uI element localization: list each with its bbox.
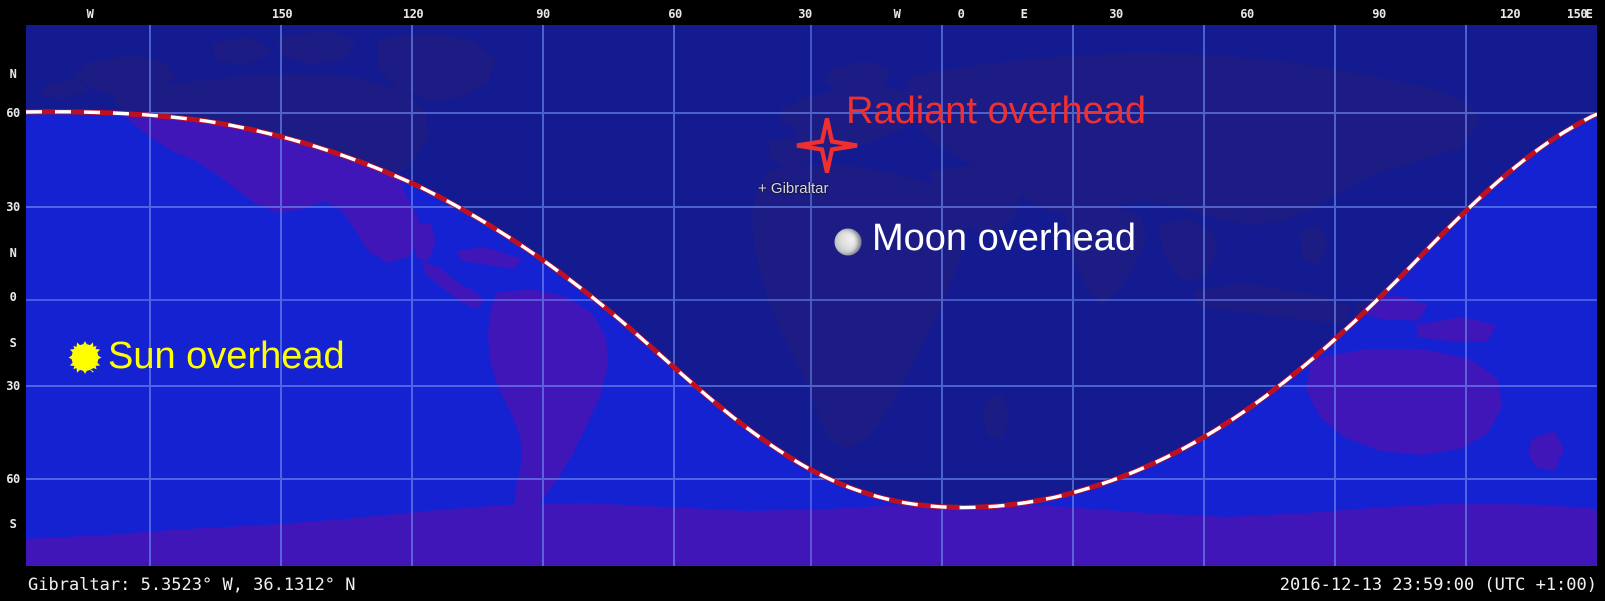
lon-tick-label: 60 [668,8,681,20]
map-svg [26,25,1597,566]
moon-overhead-label: Moon overhead [872,219,1136,257]
lat-tick-label: 60 [6,473,19,485]
lat-tick-label: N [10,247,17,259]
lat-tick-label: 60 [6,107,19,119]
lat-tick-label: 30 [6,201,19,213]
map-canvas[interactable] [26,25,1597,566]
lat-tick-label: 0 [10,291,17,303]
lon-tick-label: E [1021,8,1028,20]
lon-tick-label: E [1586,8,1593,20]
lon-tick-label: 120 [1500,8,1520,20]
sun-overhead-label: Sun overhead [108,337,345,375]
status-timestamp-text: 2016-12-13 23:59:00 (UTC +1:00) [1280,575,1597,595]
city-marker-gibraltar[interactable]: + Gibraltar [758,180,828,197]
lon-tick-label: W [87,8,94,20]
world-map-app: W 150 120 90 60 30 W 0 E 30 60 90 120 15… [0,0,1605,601]
sun-disc [66,339,104,377]
lon-tick-label: 30 [1109,8,1122,20]
lon-tick-label: 30 [798,8,811,20]
lat-tick-label: 30 [6,380,19,392]
lon-tick-label: 150 [272,8,292,20]
lat-tick-label: S [10,337,17,349]
sun-icon[interactable] [66,339,104,382]
status-location-text: Gibraltar: 5.3523° W, 36.1312° N [28,575,356,595]
lon-tick-label: 90 [1372,8,1385,20]
lon-tick-label: 60 [1240,8,1253,20]
lat-tick-label: S [10,518,17,530]
lat-tick-label: N [10,68,17,80]
lon-tick-label: 120 [403,8,423,20]
status-bar: Gibraltar: 5.3523° W, 36.1312° N 2016-12… [0,566,1605,601]
moon-disc [835,229,862,256]
lon-tick-label: 0 [958,8,965,20]
radiant-overhead-label: Radiant overhead [846,92,1146,130]
lon-tick-label: 90 [536,8,549,20]
lon-tick-label: W [894,8,901,20]
lon-tick-label: 150 [1567,8,1587,20]
moon-icon[interactable] [835,229,862,256]
